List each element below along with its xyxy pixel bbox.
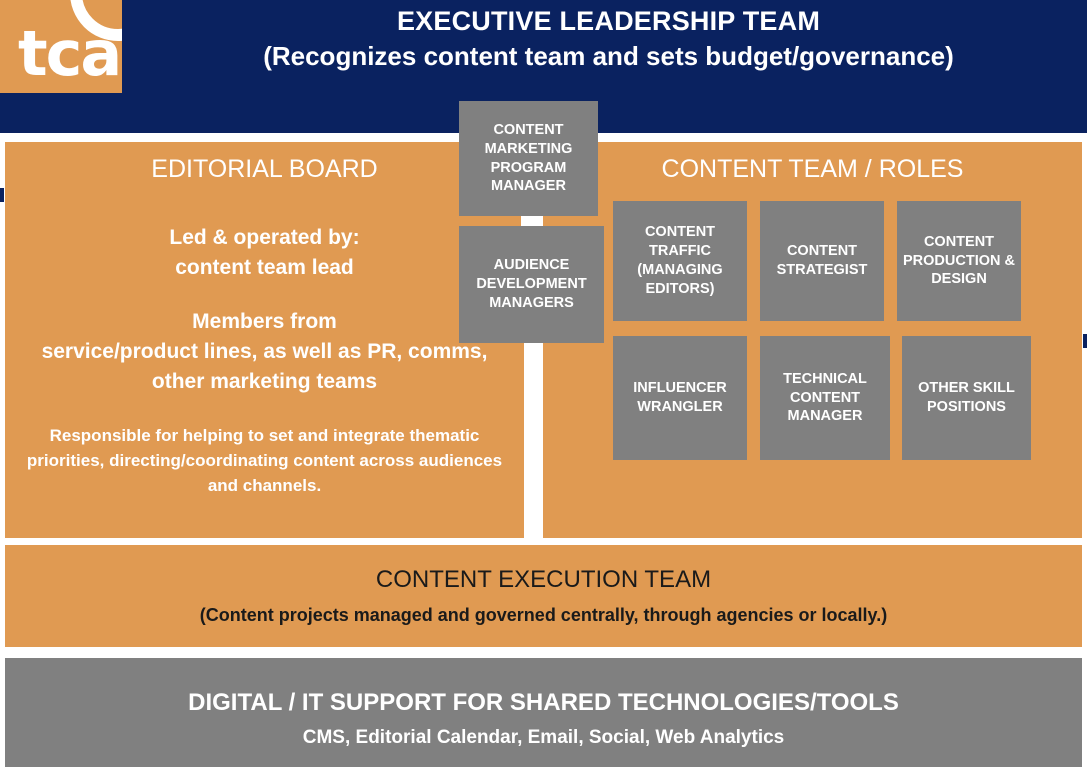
content-execution-team-subtitle: (Content projects managed and governed c… [5, 605, 1082, 626]
editorial-board-led-by: Led & operated by: content team lead [13, 223, 516, 283]
role-box-content-traffic[interactable]: CONTENT TRAFFIC (MANAGING EDITORS) [613, 201, 747, 321]
editorial-board-heading: EDITORIAL BOARD [5, 155, 524, 184]
role-box-influencer-wrangler[interactable]: INFLUENCER WRANGLER [613, 336, 747, 460]
org-chart-canvas: EXECUTIVE LEADERSHIP TEAM (Recognizes co… [0, 0, 1087, 772]
box-content-marketing-program-manager[interactable]: CONTENT MARKETING PROGRAM MANAGER [459, 101, 598, 216]
role-box-content-production-design[interactable]: CONTENT PRODUCTION & DESIGN [897, 201, 1021, 321]
connector-tick-left [0, 188, 4, 202]
editorial-board-panel: EDITORIAL BOARD Led & operated by: conte… [5, 142, 524, 538]
content-team-heading: CONTENT TEAM / ROLES [543, 155, 1082, 184]
content-execution-team-title: CONTENT EXECUTION TEAM [5, 566, 1082, 594]
logo-wordmark: tca [18, 23, 120, 85]
editorial-board-responsibilities: Responsible for helping to set and integ… [13, 424, 516, 498]
header-text-group: EXECUTIVE LEADERSHIP TEAM (Recognizes co… [130, 4, 1087, 74]
digital-it-support-band: DIGITAL / IT SUPPORT FOR SHARED TECHNOLO… [5, 658, 1082, 767]
page-subtitle: (Recognizes content team and sets budget… [130, 40, 1087, 74]
connector-cmpm-to-adm [521, 216, 538, 226]
digital-it-support-subtitle: CMS, Editorial Calendar, Email, Social, … [5, 727, 1082, 749]
tca-logo: tca [0, 0, 122, 93]
role-box-technical-content-manager[interactable]: TECHNICAL CONTENT MANAGER [760, 336, 890, 460]
role-box-other-skill-positions[interactable]: OTHER SKILL POSITIONS [902, 336, 1031, 460]
editorial-board-members: Members from service/product lines, as w… [13, 307, 516, 396]
role-box-content-strategist[interactable]: CONTENT STRATEGIST [760, 201, 884, 321]
connector-tick-right [1083, 334, 1087, 348]
content-execution-team-band: CONTENT EXECUTION TEAM (Content projects… [5, 545, 1082, 647]
digital-it-support-title: DIGITAL / IT SUPPORT FOR SHARED TECHNOLO… [5, 689, 1082, 717]
box-audience-development-managers[interactable]: AUDIENCE DEVELOPMENT MANAGERS [459, 226, 604, 343]
page-title: EXECUTIVE LEADERSHIP TEAM [130, 4, 1087, 39]
